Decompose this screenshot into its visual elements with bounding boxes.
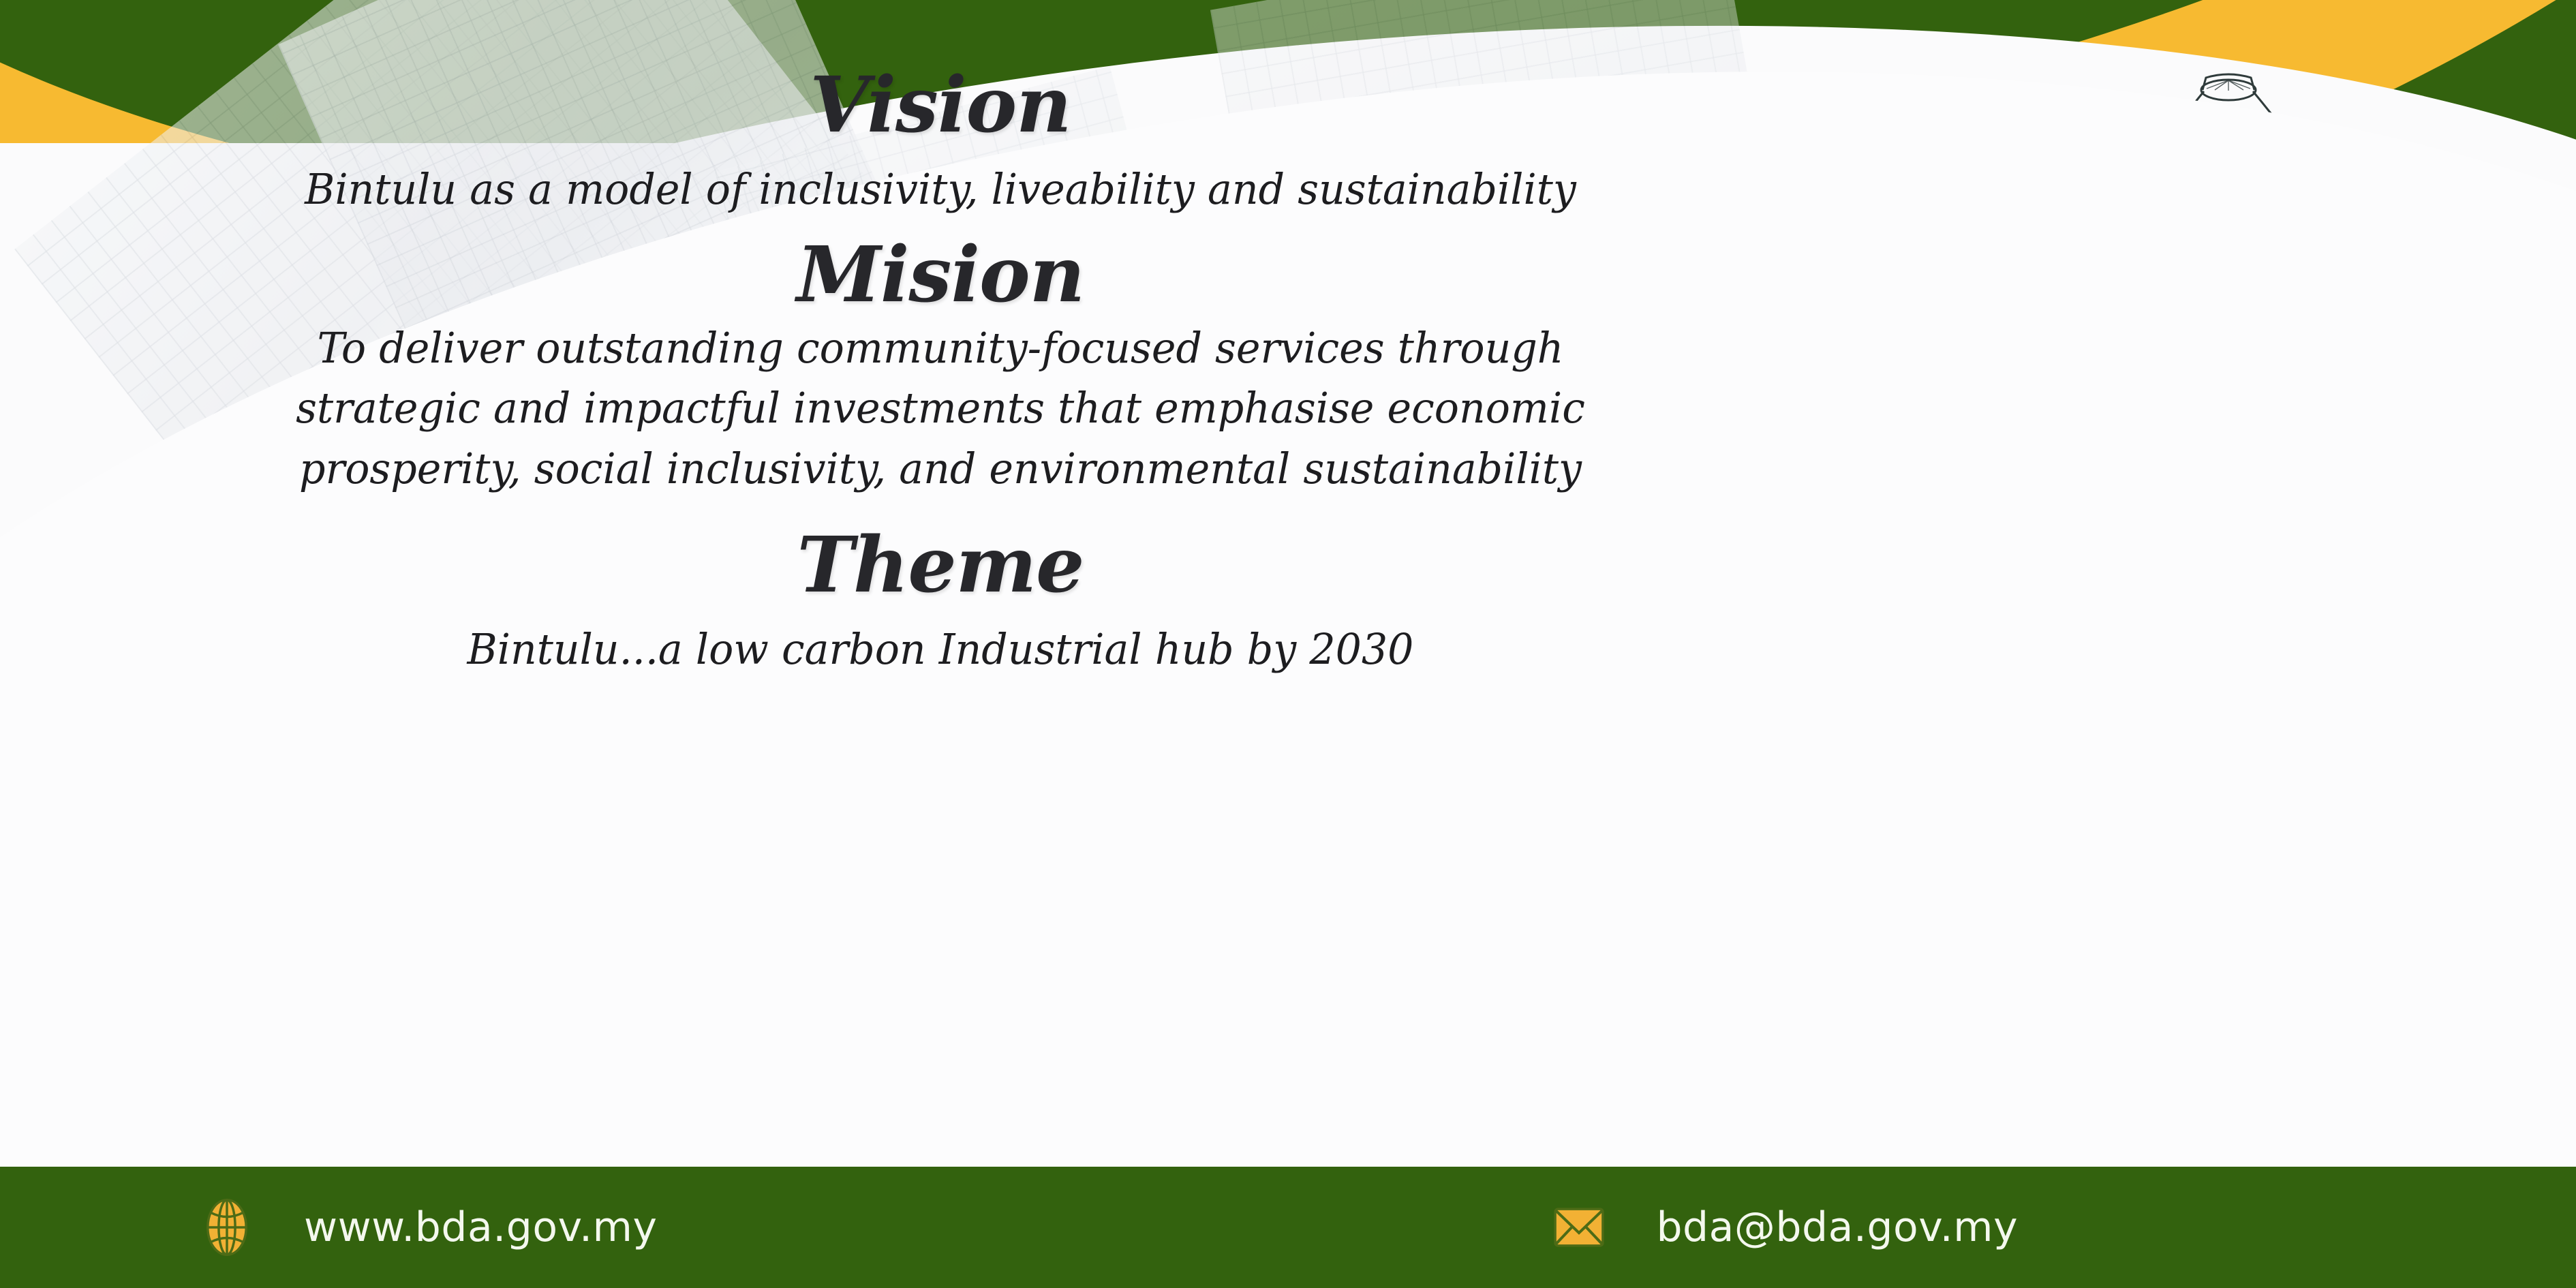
content-column: Vision Bintulu as a model of inclusivity… xyxy=(0,63,1881,677)
website-label: www.bda.gov.my xyxy=(304,1203,657,1251)
globe-icon xyxy=(198,1198,256,1257)
vision-line-1: Bintulu as a model of inclusivity, livea… xyxy=(28,162,1852,217)
mision-line-1: To deliver outstanding community-focused… xyxy=(28,320,1852,376)
mision-line-2: strategic and impactful investments that… xyxy=(28,380,1852,436)
footer-email[interactable]: bda@bda.gov.my xyxy=(1550,1198,2018,1257)
email-label: bda@bda.gov.my xyxy=(1656,1203,2018,1251)
footer-bar: www.bda.gov.my bda@bda.gov.my xyxy=(0,1167,2576,1288)
banner-root: BIO xyxy=(0,0,2576,1288)
theme-line-1: Bintulu...a low carbon Industrial hub by… xyxy=(28,622,1852,677)
vision-block: Vision Bintulu as a model of inclusivity… xyxy=(0,65,1881,217)
mision-line-3: prosperity, social inclusivity, and envi… xyxy=(28,441,1852,497)
theme-heading: Theme xyxy=(0,525,1881,607)
mision-heading: Mision xyxy=(0,235,1881,316)
mision-block: Mision To deliver outstanding community-… xyxy=(0,235,1881,497)
footer-website[interactable]: www.bda.gov.my xyxy=(198,1198,657,1257)
vision-heading: Vision xyxy=(0,65,1881,147)
envelope-icon xyxy=(1550,1198,1608,1257)
theme-block: Theme Bintulu...a low carbon Industrial … xyxy=(0,525,1881,677)
